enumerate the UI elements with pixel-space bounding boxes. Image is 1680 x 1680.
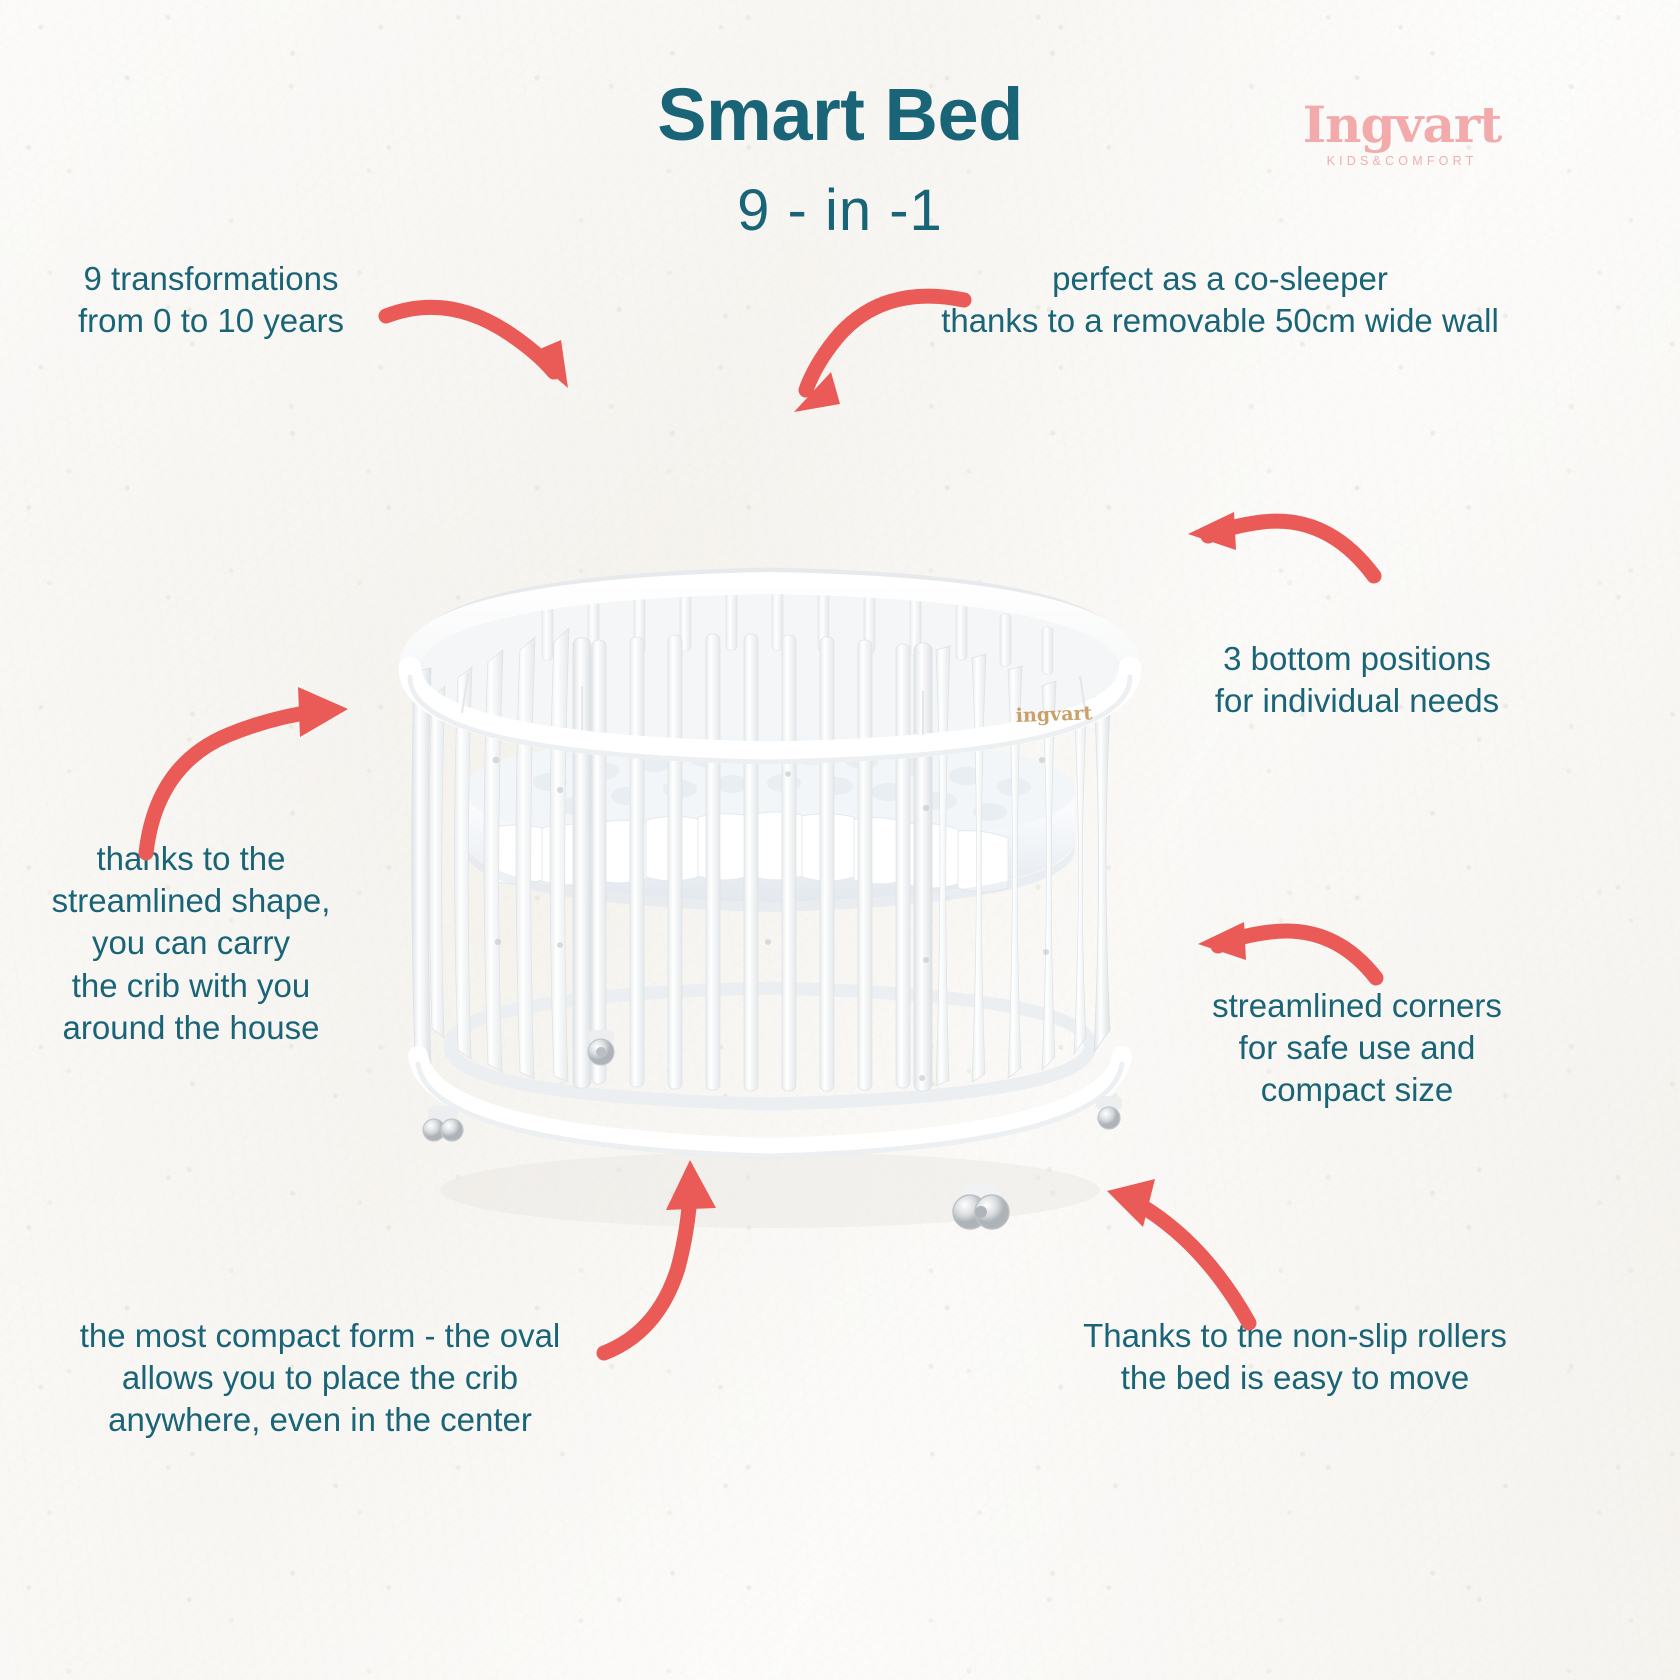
brand-logo-wordmark: Ingvart — [1272, 100, 1532, 150]
callout-bottom-positions: 3 bottom positions for individual needs — [1182, 638, 1532, 722]
arrow-compact-oval — [596, 1148, 756, 1363]
product-image-crib: ingvart — [370, 490, 1170, 1280]
arrow-portable — [112, 645, 362, 860]
callout-co-sleeper: perfect as a co-sleeper thanks to a remo… — [905, 258, 1535, 342]
crib-caster-wheel-back-left — [423, 1106, 463, 1141]
arrow-streamlined-corners — [1188, 912, 1388, 1012]
callout-portable: thanks to the streamlined shape, you can… — [16, 838, 366, 1049]
page-subtitle: 9 - in -1 — [0, 182, 1680, 240]
infographic-page: Smart Bed 9 - in -1 Ingvart KIDS&COMFORT — [0, 0, 1680, 1680]
callout-transformations: 9 transformations from 0 to 10 years — [46, 258, 376, 342]
brand-logo: Ingvart KIDS&COMFORT — [1272, 100, 1532, 168]
arrow-co-sleeper — [768, 272, 978, 432]
arrow-rollers — [1085, 1145, 1265, 1335]
crib-caster-wheel-inner — [588, 1030, 614, 1065]
arrow-transformations — [378, 268, 608, 403]
callout-compact-oval: the most compact form - the oval allows … — [30, 1315, 610, 1442]
arrow-bottom-positions — [1178, 492, 1388, 602]
crib-brand-mark: ingvart — [1015, 702, 1092, 727]
crib-base-rim — [450, 988, 1090, 1104]
brand-logo-tagline: KIDS&COMFORT — [1272, 155, 1532, 168]
crib-caster-wheel-back-right — [1096, 1096, 1122, 1129]
